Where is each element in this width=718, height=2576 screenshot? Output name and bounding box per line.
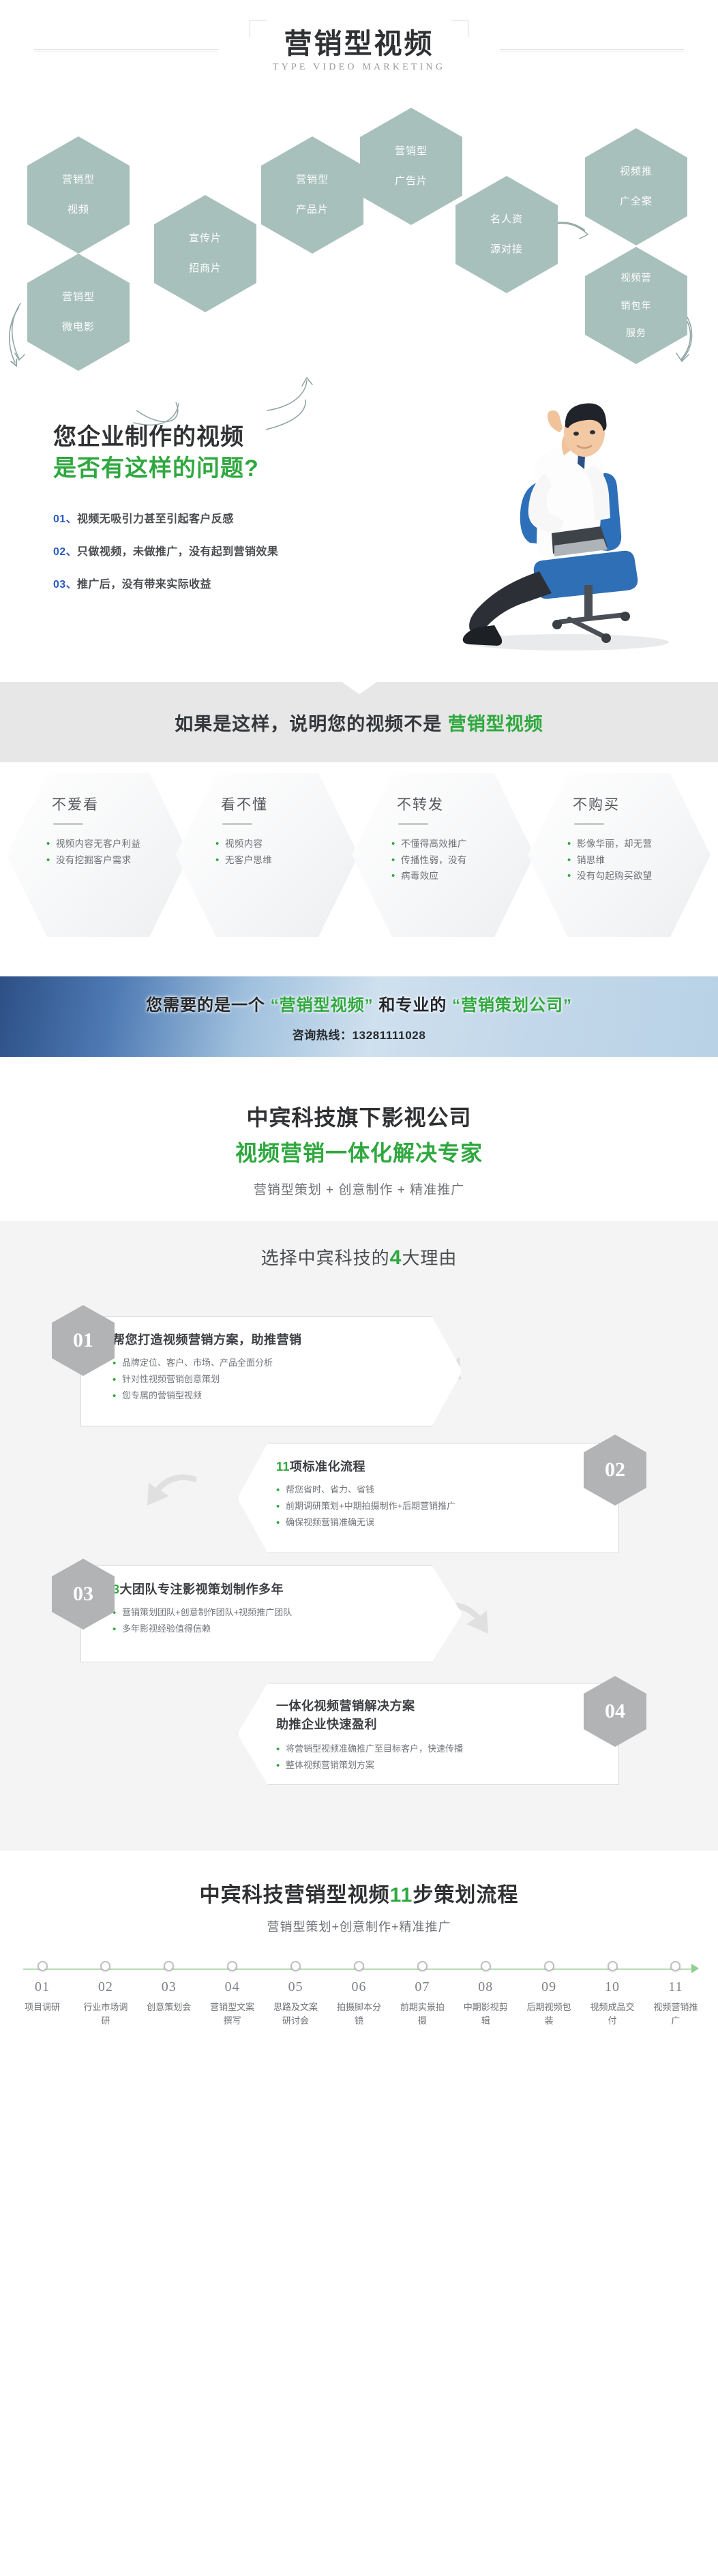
problem-hex-bullet: 视频内容 [215, 836, 359, 852]
reason-card-title: 3大团队专注影视策划制作多年 [113, 1580, 441, 1598]
timeline-step-number: 11 [651, 1979, 700, 1995]
timeline-step-number: 02 [81, 1979, 130, 1995]
timeline-step[interactable]: 05思路及文案研讨会 [271, 1975, 320, 2027]
problem-hex-bullet-cont: 病毒效应 [391, 868, 535, 884]
flow-arrow-icon [145, 1466, 199, 1515]
problem-item-number: 02、 [53, 546, 77, 558]
problem-item-text: 视频无吸引力甚至引起客户反感 [77, 513, 234, 525]
problem-hex-title: 看不懂 [221, 794, 359, 814]
timeline-step-number: 06 [334, 1979, 383, 1995]
problem-hex-content: 看不懂 视频内容 无客户思维 [176, 794, 359, 868]
intro-heading-dark: 中宾科技旗下影视公司 [0, 1100, 718, 1132]
divider [398, 823, 428, 825]
problem-hex-bullet-cont: 销思维 [567, 852, 710, 869]
header-rule-left [34, 49, 218, 50]
cta-highlight-2: “营销策划公司” [452, 996, 572, 1015]
timeline-step-number: 07 [398, 1979, 447, 1995]
timeline-step[interactable]: 08中期影视剪辑 [461, 1975, 510, 2027]
cta-highlight-1: “营销型视频” [271, 996, 374, 1015]
reason-card[interactable]: 帮您打造视频营销方案，助推营销 品牌定位、客户、市场、产品全面分析 针对性视频营… [80, 1316, 462, 1426]
reason-card-bullet: 确保视频营销准确无误 [276, 1514, 587, 1531]
page-subtitle-en: TYPE VIDEO MARKETING [273, 62, 445, 73]
header-title-box: 营销型视频 TYPE VIDEO MARKETING [250, 20, 468, 83]
timeline-step-label: 营销型文案撰写 [208, 2001, 257, 2027]
gray-banner-text: 如果是这样，说明您的视频不是 营销型视频 [175, 709, 543, 736]
hex-label-line1: 视频推 [610, 164, 662, 179]
cta-hotline-number: 13281111028 [353, 1029, 426, 1042]
problem-hex-title: 不爱看 [52, 794, 190, 814]
problem-item-text: 只做视频，未做推广，没有起到营销效果 [77, 546, 278, 558]
header-rule-right [500, 49, 684, 50]
timeline-dot-icon [354, 1961, 364, 1971]
timeline-step[interactable]: 03创意策划会 [145, 1975, 194, 2027]
reason-number: 04 [605, 1700, 625, 1723]
problem-heading-dark: 您企业制作的视频 [53, 423, 374, 453]
divider [574, 823, 604, 825]
problem-item: 03、推广后，没有带来实际收益 [53, 575, 374, 591]
hex-label-line2: 微电影 [53, 320, 104, 335]
problem-hex-bullet: 不懂得高效推广 [391, 836, 535, 852]
reason-card-title-text2: 助推企业快速盈利 [276, 1718, 377, 1731]
timeline-step-number: 05 [271, 1979, 320, 1995]
hex-label-line2: 产品片 [286, 203, 338, 218]
page-title: 营销型视频 [273, 29, 445, 59]
timeline-steps: 01项目调研 02行业市场调研 03创意策划会 04营销型文案撰写 05思路及文… [18, 1975, 700, 2027]
four-problem-hexes: 不爱看 视频内容无客户利益 没有挖掘客户需求 看不懂 视频内容 无客户思维 不转… [0, 762, 718, 960]
cta-hotline[interactable]: 咨询热线：13281111028 [293, 1025, 426, 1043]
intro-subtitle: 营销型策划 + 创意制作 + 精准推广 [0, 1180, 718, 1198]
problem-hex-content: 不转发 不懂得高效推广 传播性弱，没有 病毒效应 [352, 794, 535, 884]
reason-card-title: 帮您打造视频营销方案，助推营销 [113, 1330, 441, 1348]
reasons-title-b: 大理由 [402, 1248, 457, 1268]
reasons-section: 选择中宾科技的4大理由 帮您打造视频营销方案，助推营销 品牌定位、客户、市场、产… [0, 1221, 718, 1851]
timeline-heading-b: 步策划流程 [413, 1884, 518, 1906]
hex-label-line2: 广全案 [610, 194, 662, 209]
reason-card-bullet: 前期调研策划+中期拍摄制作+后期营销推广 [276, 1498, 587, 1514]
reason-number: 03 [73, 1583, 93, 1606]
reasons-cards: 帮您打造视频营销方案，助推营销 品牌定位、客户、市场、产品全面分析 针对性视频营… [0, 1287, 718, 1819]
cta-text-a: 您需要的是一个 [146, 996, 271, 1015]
reason-card-title-text: 一体化视频营销解决方案 [276, 1699, 415, 1713]
businessman-photo [396, 402, 683, 655]
timeline-step-label: 视频营销推广 [651, 2001, 700, 2027]
problem-hex-bullet: 没有挖掘客户需求 [46, 852, 190, 869]
timeline-arrow-icon [691, 1964, 699, 1973]
hex-label-line1: 营销型 [286, 173, 338, 188]
hex-label-line1: 名人资 [481, 212, 533, 227]
cta-banner: 您需要的是一个 “营销型视频” 和专业的 “营销策划公司” 咨询热线：13281… [0, 960, 718, 1076]
timeline-heading-a: 中宾科技营销型视频 [200, 1884, 390, 1906]
timeline-step-label: 创意策划会 [145, 2001, 194, 2014]
reasons-title: 选择中宾科技的4大理由 [0, 1244, 718, 1270]
timeline-step-label: 后期视频包装 [524, 2001, 573, 2027]
reason-card-bullet: 针对性视频营销创意策划 [113, 1371, 441, 1388]
hex-label-line2: 视频 [53, 203, 104, 218]
service-hex-cluster: 营销型视频 营销型微电影 宣传片招商片 营销型产品片 营销型广告片 名人资源对接… [0, 102, 718, 389]
timeline-step[interactable]: 07前期实景拍摄 [398, 1975, 447, 2027]
problem-hex-title: 不转发 [397, 794, 535, 814]
reason-card-bullet: 帮您省时、省力、省钱 [276, 1482, 587, 1498]
problem-hex-bullet: 没有勾起购买欲望 [567, 868, 710, 884]
timeline-step[interactable]: 06拍摄脚本分镜 [334, 1975, 383, 2027]
divider [222, 823, 252, 825]
hex-label-line3: 服务 [612, 326, 661, 340]
hex-label-line1: 视频营 [612, 271, 661, 284]
timeline-dot-icon [481, 1961, 491, 1971]
reason-card-bullet: 品牌定位、客户、市场、产品全面分析 [113, 1355, 441, 1371]
reason-card-bullet: 整体视频营销策划方案 [276, 1757, 587, 1773]
timeline-step-label: 前期实景拍摄 [398, 2001, 447, 2027]
timeline-step[interactable]: 09后期视频包装 [524, 1975, 573, 2027]
reason-card-title: 11项标准化流程 [276, 1457, 587, 1475]
reason-card-bullet: 您专属的营销型视频 [113, 1388, 441, 1404]
hex-label-line2: 源对接 [481, 242, 533, 257]
reason-number: 01 [73, 1329, 93, 1352]
company-intro: 中宾科技旗下影视公司 视频营销一体化解决专家 营销型策划 + 创意制作 + 精准… [0, 1076, 718, 1221]
timeline-heading: 中宾科技营销型视频11步策划流程 [0, 1878, 718, 1908]
problem-hex-bullet: 影像华丽，却无营 [567, 836, 710, 852]
problem-item-number: 03、 [53, 579, 77, 590]
reasons-title-number: 4 [390, 1246, 402, 1269]
reason-card-title-text: 大团队专注影视策划制作多年 [120, 1583, 284, 1596]
hex-label-line1: 宣传片 [179, 231, 231, 246]
problem-item: 02、只做视频，未做推广，没有起到营销效果 [53, 542, 374, 558]
reasons-title-a: 选择中宾科技的 [261, 1248, 390, 1268]
reason-card-bullet: 营销策划团队+创意制作团队+视频推广团队 [113, 1604, 441, 1621]
page-header: 营销型视频 TYPE VIDEO MARKETING [0, 0, 718, 102]
timeline-step[interactable]: 02行业市场调研 [81, 1975, 130, 2027]
timeline-step-label: 拍摄脚本分镜 [334, 2001, 383, 2027]
timeline-dot-icon [417, 1961, 428, 1971]
timeline-step-number: 01 [18, 1979, 67, 1995]
timeline-step-label: 行业市场调研 [81, 2001, 130, 2027]
problem-hex-bullet: 传播性弱，没有 [391, 852, 535, 869]
banner-notch-top-icon [342, 682, 377, 694]
gray-banner-text-highlight: 营销型视频 [448, 714, 543, 734]
timeline-dot-icon [38, 1961, 48, 1971]
problem-hex-content: 不爱看 视频内容无客户利益 没有挖掘客户需求 [7, 794, 190, 868]
landing-page: 营销型视频 TYPE VIDEO MARKETING [0, 0, 718, 2058]
reason-card-title-number: 11 [276, 1460, 290, 1473]
cta-hotline-label: 咨询热线： [293, 1029, 353, 1042]
problem-list: 01、视频无吸引力甚至引起客户反感 02、只做视频，未做推广，没有起到营销效果 … [53, 509, 374, 591]
timeline-step-label: 中期影视剪辑 [461, 2001, 510, 2027]
timeline-heading-number: 11 [390, 1884, 413, 1906]
problem-heading-green: 是否有这样的问题? [53, 454, 374, 484]
process-timeline-section: 中宾科技营销型视频11步策划流程 营销型策划+创意制作+精准推广 01项目调研 … [0, 1851, 718, 2058]
reason-card[interactable]: 11项标准化流程 帮您省时、省力、省钱 前期调研策划+中期拍摄制作+后期营销推广… [237, 1443, 619, 1553]
problem-hex-content: 不购买 影像华丽，却无营 销思维 没有勾起购买欲望 [528, 794, 710, 884]
reason-number: 02 [605, 1458, 625, 1482]
cta-text-b: 和专业的 [374, 996, 452, 1015]
reason-card-title-text: 帮您打造视频营销方案，助推营销 [113, 1333, 302, 1347]
timeline-dot-icon [544, 1961, 554, 1971]
gray-banner-text-plain: 如果是这样，说明您的视频不是 [175, 714, 448, 734]
gray-banner: 如果是这样，说明您的视频不是 营销型视频 [0, 682, 718, 762]
timeline-step[interactable]: 04营销型文案撰写 [208, 1975, 257, 2027]
intro-heading-green: 视频营销一体化解决专家 [0, 1136, 718, 1167]
timeline-step[interactable]: 11视频营销推广 [651, 1975, 700, 2027]
problem-hex-bullet: 视频内容无客户利益 [46, 836, 190, 852]
timeline-subtitle: 营销型策划+创意制作+精准推广 [0, 1917, 718, 1935]
hex-label-line1: 营销型 [53, 290, 104, 305]
timeline-dot-icon [290, 1961, 301, 1971]
reason-card[interactable]: 一体化视频营销解决方案助推企业快速盈利 将营销型视频准确推广至目标客户，快速传播… [237, 1683, 619, 1785]
timeline-dot-icon [608, 1961, 618, 1971]
problem-text-block: 您企业制作的视频 是否有这样的问题? 01、视频无吸引力甚至引起客户反感 02、… [53, 423, 374, 608]
timeline-step-label: 项目调研 [18, 2001, 67, 2014]
problem-item-text: 推广后，没有带来实际收益 [77, 579, 211, 590]
cta-bar: 您需要的是一个 “营销型视频” 和专业的 “营销策划公司” 咨询热线：13281… [0, 976, 718, 1057]
problem-item-number: 01、 [53, 513, 77, 525]
hex-label-line1: 营销型 [53, 173, 104, 188]
problem-hex-title: 不购买 [573, 794, 710, 814]
problem-section: 您企业制作的视频 是否有这样的问题? 01、视频无吸引力甚至引起客户反感 02、… [0, 389, 718, 682]
reason-card-title-text: 项标准化流程 [290, 1460, 365, 1473]
timeline-step-number: 09 [524, 1979, 573, 1995]
hex-label-line2: 招商片 [179, 261, 231, 276]
reason-card-bullet: 多年影视经验值得信赖 [113, 1621, 441, 1637]
cta-headline: 您需要的是一个 “营销型视频” 和专业的 “营销策划公司” [146, 991, 572, 1015]
problem-hex-bullet: 无客户思维 [215, 852, 359, 869]
reason-card-bullet: 将营销型视频准确推广至目标客户，快速传播 [276, 1741, 587, 1757]
timeline-step-number: 10 [588, 1979, 637, 1995]
timeline-step-label: 思路及文案研讨会 [271, 2001, 320, 2027]
timeline-step-number: 08 [461, 1979, 510, 1995]
hex-label-line2: 广告片 [385, 174, 437, 189]
divider [53, 823, 83, 825]
timeline-step[interactable]: 01项目调研 [18, 1975, 67, 2027]
timeline-step-label: 视频成品交付 [588, 2001, 637, 2027]
timeline-step[interactable]: 10视频成品交付 [588, 1975, 637, 2027]
hex-label-line1: 营销型 [385, 144, 437, 159]
hex-label-line2: 销包年 [612, 299, 661, 312]
reason-card-title: 一体化视频营销解决方案助推企业快速盈利 [276, 1697, 587, 1734]
timeline-step-number: 03 [145, 1979, 194, 1995]
problem-item: 01、视频无吸引力甚至引起客户反感 [53, 509, 374, 526]
reason-card[interactable]: 3大团队专注影视策划制作多年 营销策划团队+创意制作团队+视频推广团队 多年影视… [80, 1566, 462, 1662]
timeline-step-number: 04 [208, 1979, 257, 1995]
